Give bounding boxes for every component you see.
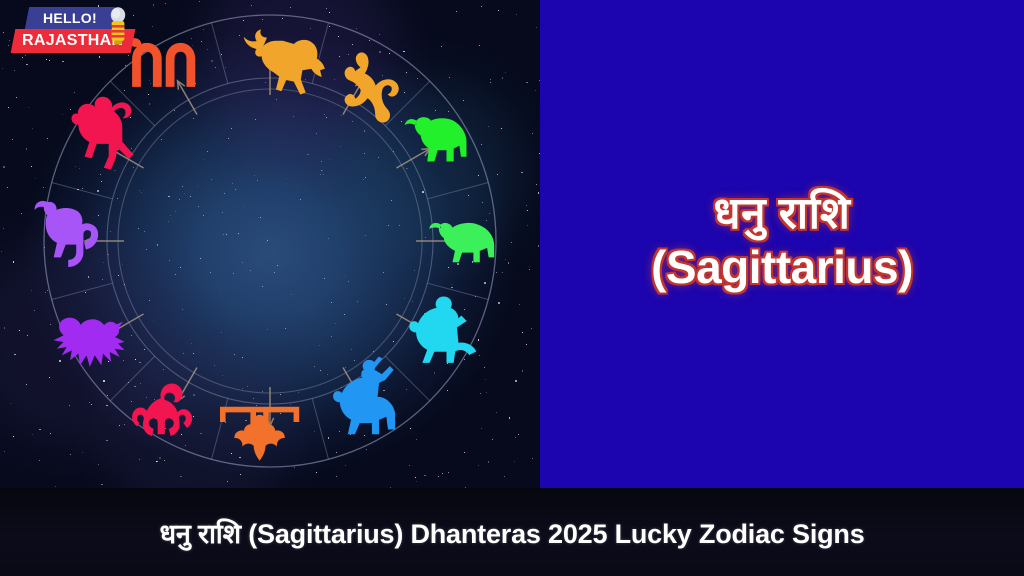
logo-hello-text: HELLO! <box>43 11 97 25</box>
caption-bar: धनु राशि (Sagittarius) Dhanteras 2025 Lu… <box>0 488 1024 576</box>
wheel-arrow <box>396 149 430 169</box>
microphone-icon <box>107 6 129 46</box>
zodiac-sign-libra <box>220 407 298 460</box>
channel-logo: HELLO! RAJASTHAN <box>13 7 148 55</box>
zodiac-wheel <box>35 6 505 476</box>
logo-hello-banner: HELLO! <box>25 7 115 29</box>
title-english: (Sagittarius) <box>651 240 913 294</box>
zodiac-sign-leo <box>244 30 324 94</box>
zodiac-sign-sagittarius <box>333 357 394 434</box>
zodiac-sign-capricorn <box>430 223 494 261</box>
zodiac-image-panel: HELLO! RAJASTHAN <box>0 0 540 488</box>
screenshot-root: HELLO! RAJASTHAN धनु राशि (Sagittarius) … <box>0 0 1024 576</box>
title-panel: धनु राशि (Sagittarius) <box>540 0 1024 488</box>
zodiac-sign-aries <box>72 97 133 169</box>
zodiac-sign-cancer <box>55 318 124 366</box>
title-block: धनु राशि (Sagittarius) <box>651 188 913 300</box>
zodiac-sign-taurus <box>405 118 466 162</box>
title-hindi: धनु राशि <box>651 188 913 240</box>
zodiac-sign-virgo <box>345 53 398 122</box>
caption-text: धनु राशि (Sagittarius) Dhanteras 2025 Lu… <box>159 514 864 551</box>
